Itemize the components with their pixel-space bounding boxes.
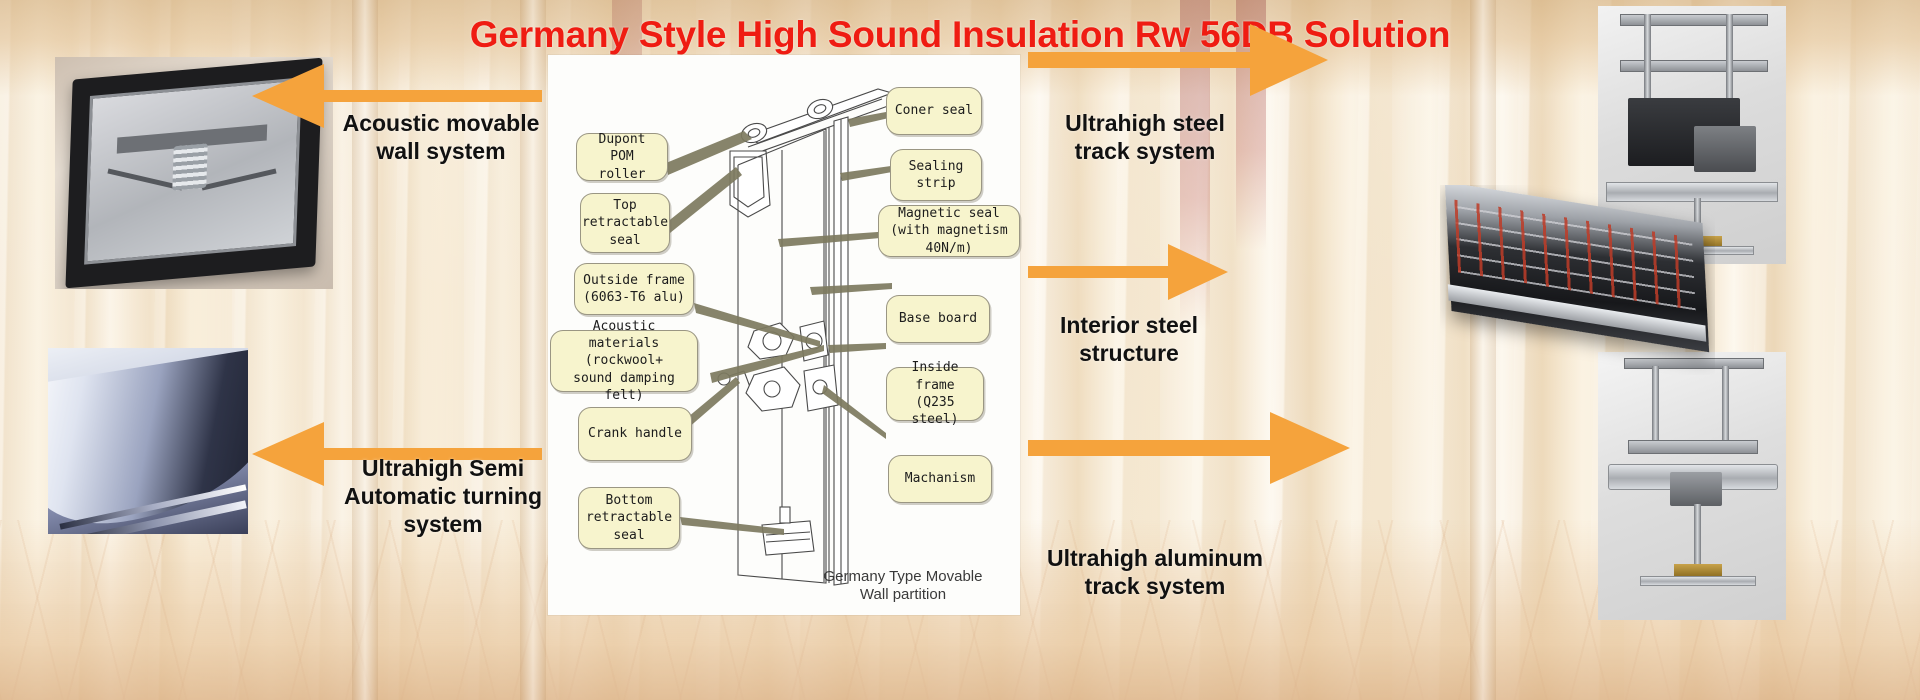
- diagram-label-acoustic-materials: Acoustic materials (rockwool+ sound damp…: [550, 330, 698, 392]
- callout-acoustic-movable-wall: Acoustic movable wall system: [330, 110, 552, 166]
- label-text: Base board: [899, 310, 977, 327]
- label-text: Top retractable seal: [582, 197, 668, 249]
- diagram-label-crank-handle: Crank handle: [578, 407, 692, 461]
- arrow-right-middle: [1028, 240, 1228, 304]
- technical-diagram-panel: Dupont POM roller Top retractable seal O…: [548, 55, 1020, 615]
- callout-ultrahigh-semi-automatic-turning: Ultrahigh Semi Automatic turning system: [325, 455, 561, 538]
- callout-ultrahigh-aluminum-track: Ultrahigh aluminum track system: [1025, 545, 1285, 601]
- infographic-canvas: Germany Style High Sound Insulation Rw 5…: [0, 0, 1920, 700]
- callout-interior-steel-structure: Interior steel structure: [1020, 312, 1238, 368]
- callout-label: Interior steel structure: [1060, 312, 1198, 366]
- label-text: Crank handle: [588, 425, 682, 442]
- label-text: Acoustic materials (rockwool+ sound damp…: [557, 318, 691, 404]
- photo-ultrahigh-aluminum-track: [1598, 352, 1786, 620]
- label-text: Outside frame (6063-T6 alu): [583, 272, 685, 307]
- photo-turning-system: [48, 348, 248, 534]
- callout-ultrahigh-steel-track: Ultrahigh steel track system: [1030, 110, 1260, 166]
- diagram-label-top-retractable-seal: Top retractable seal: [580, 193, 670, 253]
- diagram-label-sealing-strip: Sealing strip: [890, 149, 982, 201]
- diagram-label-magnetic-seal: Magnetic seal (with magnetism 40N/m): [878, 205, 1020, 257]
- label-text: Magnetic seal (with magnetism 40N/m): [885, 205, 1013, 257]
- label-text: Coner seal: [895, 102, 973, 119]
- diagram-caption: Germany Type Movable Wall partition: [798, 568, 1008, 606]
- diagram-label-bottom-retractable-seal: Bottom retractable seal: [578, 487, 680, 549]
- callout-label: Ultrahigh aluminum track system: [1047, 545, 1263, 599]
- photo-interior-steel-structure: [1440, 185, 1715, 375]
- diagram-label-inside-frame: Inside frame (Q235 steel): [886, 367, 984, 421]
- diagram-label-dupont-pom-roller: Dupont POM roller: [576, 133, 668, 181]
- label-text: Inside frame (Q235 steel): [893, 359, 977, 428]
- arrow-right-top: [1028, 22, 1328, 100]
- callout-label: Ultrahigh steel track system: [1065, 110, 1225, 164]
- diagram-label-base-board: Base board: [886, 295, 990, 343]
- arrow-right-bottom: [1028, 412, 1350, 488]
- callout-label: Acoustic movable wall system: [343, 110, 540, 164]
- label-text: Dupont POM roller: [583, 131, 661, 183]
- diagram-caption-text: Germany Type Movable Wall partition: [824, 568, 983, 604]
- callout-label: Ultrahigh Semi Automatic turning system: [344, 455, 542, 537]
- label-text: Sealing strip: [909, 158, 964, 193]
- label-text: Bottom retractable seal: [586, 492, 672, 544]
- diagram-label-coner-seal: Coner seal: [886, 87, 982, 135]
- diagram-label-machanism: Machanism: [888, 455, 992, 503]
- label-text: Machanism: [905, 470, 975, 487]
- diagram-label-outside-frame: Outside frame (6063-T6 alu): [574, 263, 694, 315]
